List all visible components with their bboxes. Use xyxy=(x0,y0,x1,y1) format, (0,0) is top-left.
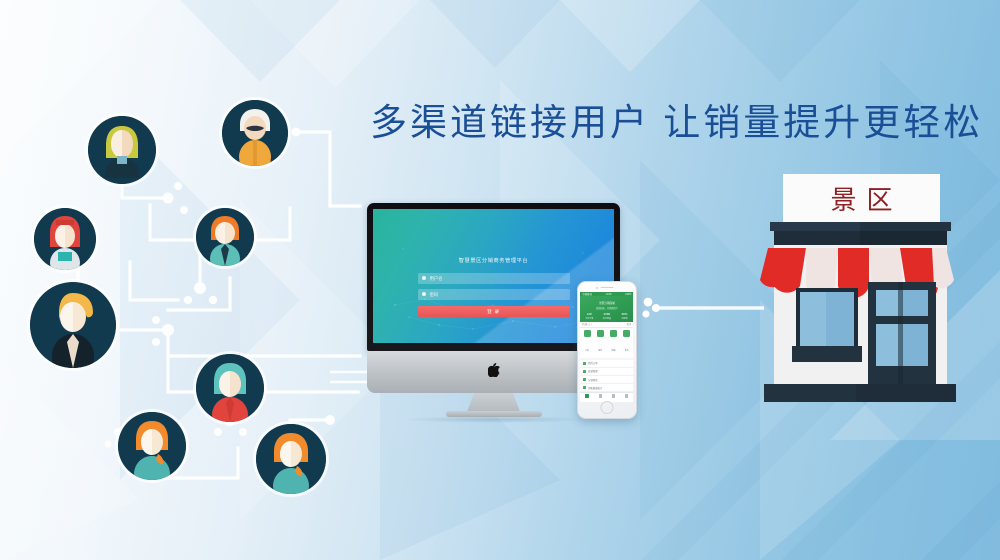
chart-icon xyxy=(583,386,586,389)
quick-action-route[interactable]: 线路 xyxy=(607,330,620,356)
stat-label: 本月销量 xyxy=(598,317,616,320)
stat-item: 96% 出票率 xyxy=(616,313,634,320)
monitor-stand xyxy=(467,393,521,413)
avatar-ginger-girl xyxy=(118,412,186,480)
slide-canvas: 多渠道链接用户 让销量提升更轻松 xyxy=(0,0,1000,560)
avatar-teal-woman xyxy=(196,354,264,422)
home-icon xyxy=(585,394,588,397)
list-item-label: 核销管理 xyxy=(588,369,598,373)
order-icon xyxy=(583,362,586,365)
quick-action-label: 酒店 xyxy=(598,350,602,352)
password-field[interactable]: 密码 xyxy=(418,289,570,300)
phone-home-button[interactable] xyxy=(601,401,614,414)
quick-action-label: 门票 xyxy=(585,350,589,352)
quick-action-hotel[interactable]: 酒店 xyxy=(594,330,607,356)
page-title: 多渠道链接用户 让销量提升更轻松 xyxy=(370,99,980,146)
apple-logo xyxy=(488,363,500,377)
connection-lines xyxy=(0,0,420,560)
phone-hero: 景区分销商城 欢迎回来，分销商用户 128 今日订单 3680 本月销量 96%… xyxy=(580,296,633,322)
scenic-area-storefront: 景区 xyxy=(752,170,968,410)
avatar-turban-man xyxy=(222,100,288,166)
route-icon xyxy=(610,330,617,337)
shop-signboard: 景区 xyxy=(783,174,940,222)
avatar-red-hair-woman xyxy=(34,208,96,270)
more-icon xyxy=(623,330,630,337)
user-icon xyxy=(625,394,628,397)
product-icon xyxy=(599,394,602,397)
quick-action-label: 线路 xyxy=(612,350,616,352)
list-item[interactable]: 分销佣金 xyxy=(580,376,633,384)
login-title: 智慧景区分销商务管理平台 xyxy=(418,257,570,264)
quick-action-ticket[interactable]: 门票 xyxy=(580,330,593,356)
iphone-mobile: 中国移动 10:30 100% 景区分销商城 欢迎回来，分销商用户 128 今日… xyxy=(577,281,637,419)
shop-sign-text: 景区 xyxy=(820,180,902,217)
quick-action-label: 更多 xyxy=(625,350,629,352)
section-more-link[interactable]: 更多 xyxy=(627,322,632,326)
list-item[interactable]: 核销管理 xyxy=(580,368,633,376)
tab-home[interactable]: 首页 xyxy=(580,393,593,402)
list-item-label: 我的订单 xyxy=(588,361,598,365)
stat-label: 今日订单 xyxy=(580,317,598,320)
quick-action-more[interactable]: 更多 xyxy=(620,330,633,356)
hero-title: 景区分销商城 xyxy=(599,301,615,305)
avatar-blonde-woman xyxy=(88,116,156,184)
lock-icon xyxy=(422,292,426,296)
phone-speaker xyxy=(601,287,614,288)
stat-label: 出票率 xyxy=(616,317,634,320)
monitor-shadow xyxy=(404,416,584,423)
password-placeholder: 密码 xyxy=(430,292,439,298)
phone-to-shop-connector xyxy=(640,296,770,324)
stat-item: 128 今日订单 xyxy=(580,313,598,320)
avatar-ginger-boy xyxy=(256,424,326,494)
verify-icon xyxy=(583,370,586,373)
avatar-orange-man xyxy=(196,208,254,266)
hotel-icon xyxy=(597,330,604,337)
section-title: 快捷入口 xyxy=(582,322,591,326)
tab-profile[interactable]: 我的 xyxy=(620,393,633,402)
stat-item: 3680 本月销量 xyxy=(598,313,616,320)
username-placeholder: 用户名 xyxy=(430,276,443,282)
login-form: 智慧景区分销商务管理平台 用户名 密码 登 录 xyxy=(418,257,570,317)
wallet-icon xyxy=(583,378,586,381)
user-icon xyxy=(422,276,426,280)
avatar-blond-man xyxy=(30,282,116,368)
ticket-icon xyxy=(584,330,591,337)
quick-actions-grid: 门票 酒店 线路 更多 xyxy=(580,328,633,359)
list-item[interactable]: 我的订单 xyxy=(580,360,633,368)
list-item-label: 分销佣金 xyxy=(588,378,598,382)
list-item-label: 销售数据统计 xyxy=(588,386,602,390)
phone-camera xyxy=(596,287,598,289)
hero-stats: 128 今日订单 3680 本月销量 96% 出票率 xyxy=(580,313,633,320)
hero-subtitle: 欢迎回来，分销商用户 xyxy=(596,306,618,310)
phone-screen: 中国移动 10:30 100% 景区分销商城 欢迎回来，分销商用户 128 今日… xyxy=(580,292,633,402)
login-button[interactable]: 登 录 xyxy=(418,306,570,317)
order-icon xyxy=(612,394,615,397)
username-field[interactable]: 用户名 xyxy=(418,273,570,284)
